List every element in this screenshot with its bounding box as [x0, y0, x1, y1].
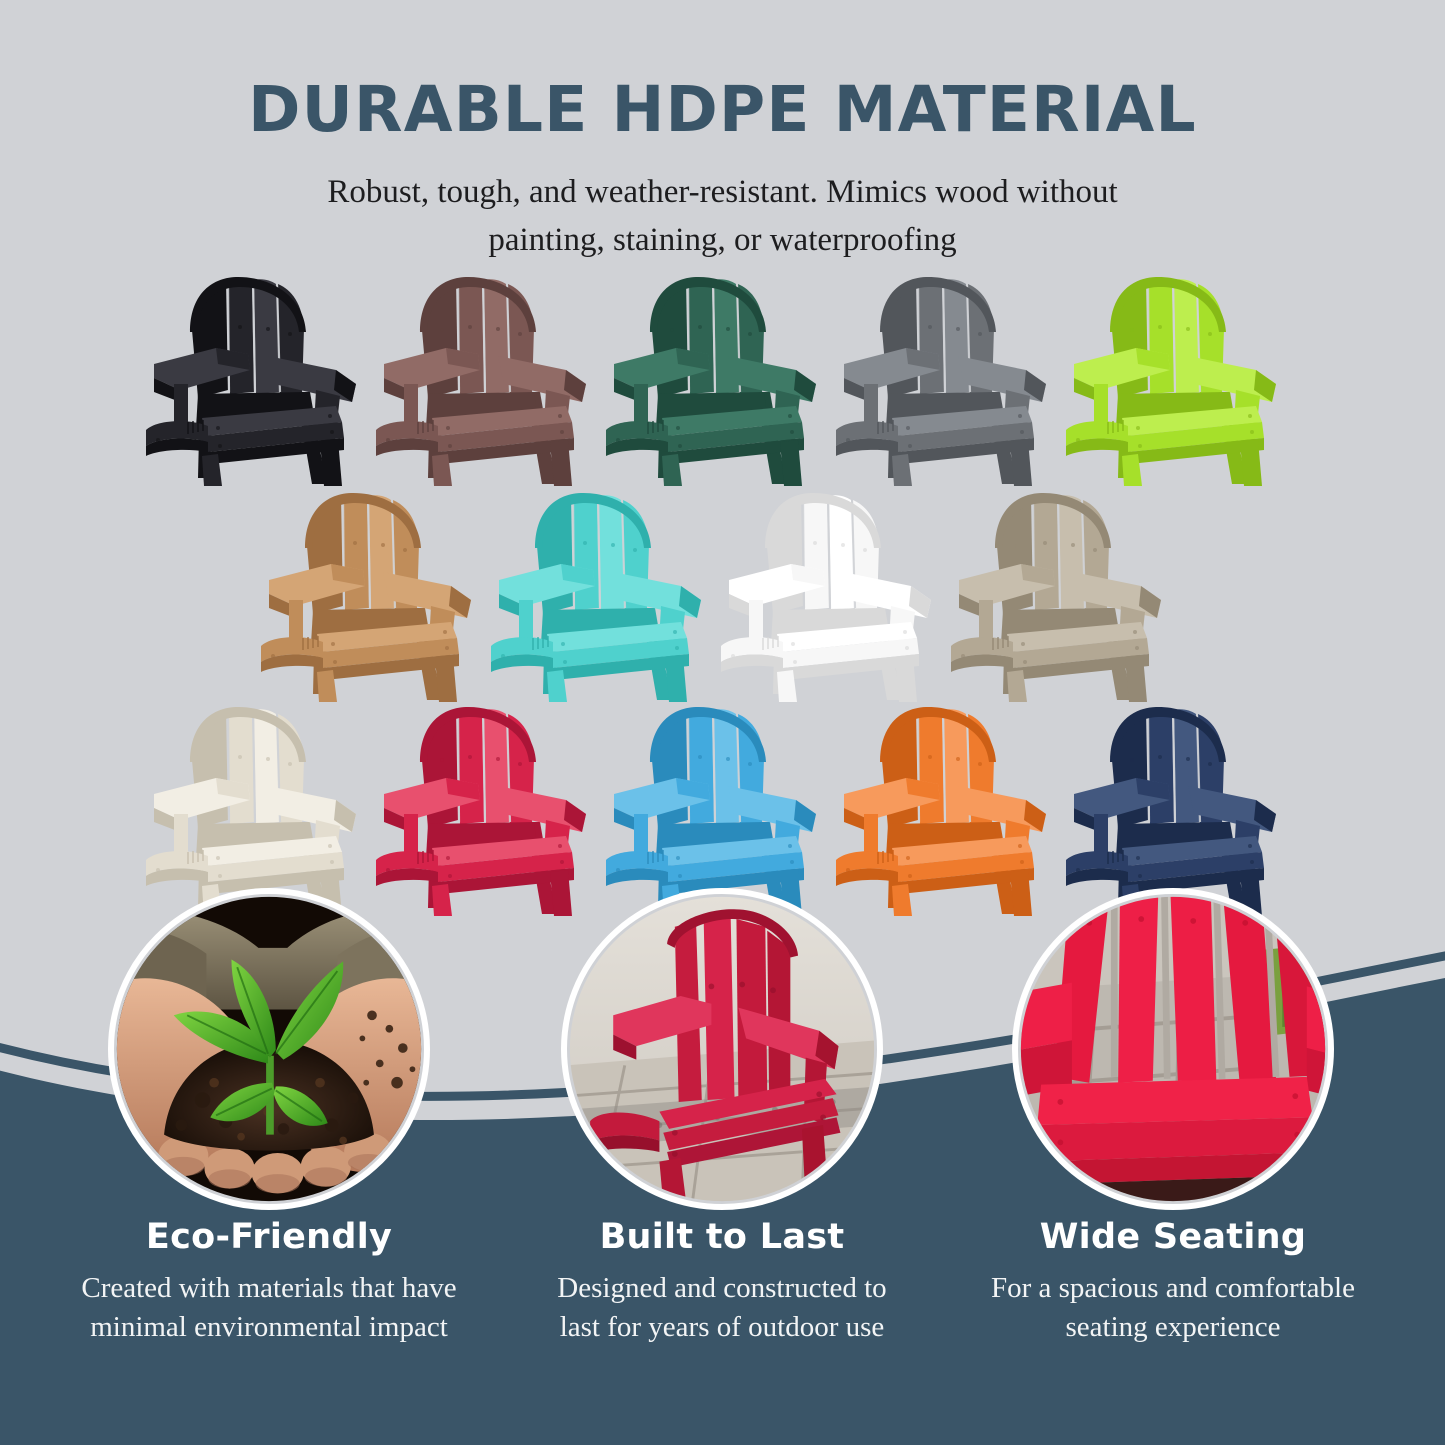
chair-swatch-red[interactable] [370, 702, 596, 918]
chair-swatch-black[interactable] [140, 272, 366, 488]
feature-heading-built-to-last: Built to Last [487, 1218, 957, 1257]
header: DURABLE HDPE MATERIAL Robust, tough, and… [0, 0, 1445, 265]
feature-photo-row [0, 888, 1445, 1213]
chair-color-grid [0, 272, 1445, 922]
feature-body-line-1: Designed and constructed to [557, 1272, 886, 1304]
chair-swatch-dark-green[interactable] [600, 272, 826, 488]
chair-swatch-teak[interactable] [255, 488, 481, 704]
feature-body-wide-seating: For a spacious and comfortable seating e… [938, 1269, 1408, 1347]
feature-body-line-2: seating experience [1066, 1311, 1281, 1343]
infographic-canvas: DURABLE HDPE MATERIAL Robust, tough, and… [0, 0, 1445, 1445]
feature-heading-wide-seating: Wide Seating [938, 1218, 1408, 1257]
feature-wide-seating: Wide Seating For a spacious and comforta… [938, 1218, 1408, 1347]
page-title: DURABLE HDPE MATERIAL [0, 0, 1445, 141]
chair-swatch-weathered-wood[interactable] [945, 488, 1171, 704]
built-photo-content [567, 894, 877, 1204]
feature-body-built-to-last: Designed and constructed to last for yea… [487, 1269, 957, 1347]
chair-swatch-white[interactable] [715, 488, 941, 704]
chair-swatch-navy-blue[interactable] [1060, 702, 1286, 918]
chair-swatch-ivory[interactable] [140, 702, 366, 918]
chair-swatch-gray[interactable] [830, 272, 1056, 488]
page-subtitle: Robust, tough, and weather-resistant. Mi… [223, 141, 1223, 265]
subtitle-line-2: painting, staining, or waterproofing [223, 217, 1223, 265]
feature-heading-eco-friendly: Eco-Friendly [34, 1218, 504, 1257]
feature-photo-eco-friendly [108, 888, 430, 1210]
subtitle-line-1: Robust, tough, and weather-resistant. Mi… [223, 169, 1223, 217]
wide-seating-photo-content [1018, 894, 1328, 1204]
feature-body-line-1: Created with materials that have [81, 1272, 456, 1304]
feature-eco-friendly: Eco-Friendly Created with materials that… [34, 1218, 504, 1347]
chair-swatch-lime-green[interactable] [1060, 272, 1286, 488]
feature-built-to-last: Built to Last Designed and constructed t… [487, 1218, 957, 1347]
feature-body-eco-friendly: Created with materials that have minimal… [34, 1269, 504, 1347]
feature-body-line-2: last for years of outdoor use [560, 1311, 885, 1343]
chair-swatch-light-blue[interactable] [600, 702, 826, 918]
chair-swatch-orange[interactable] [830, 702, 1056, 918]
feature-photo-built-to-last [561, 888, 883, 1210]
feature-body-line-2: minimal environmental impact [90, 1311, 448, 1343]
feature-photo-wide-seating [1012, 888, 1334, 1210]
feature-caption-row: Eco-Friendly Created with materials that… [0, 1218, 1445, 1418]
chair-swatch-brown[interactable] [370, 272, 596, 488]
eco-photo-content [114, 894, 424, 1204]
feature-body-line-1: For a spacious and comfortable [991, 1272, 1355, 1304]
chair-swatch-turquoise[interactable] [485, 488, 711, 704]
